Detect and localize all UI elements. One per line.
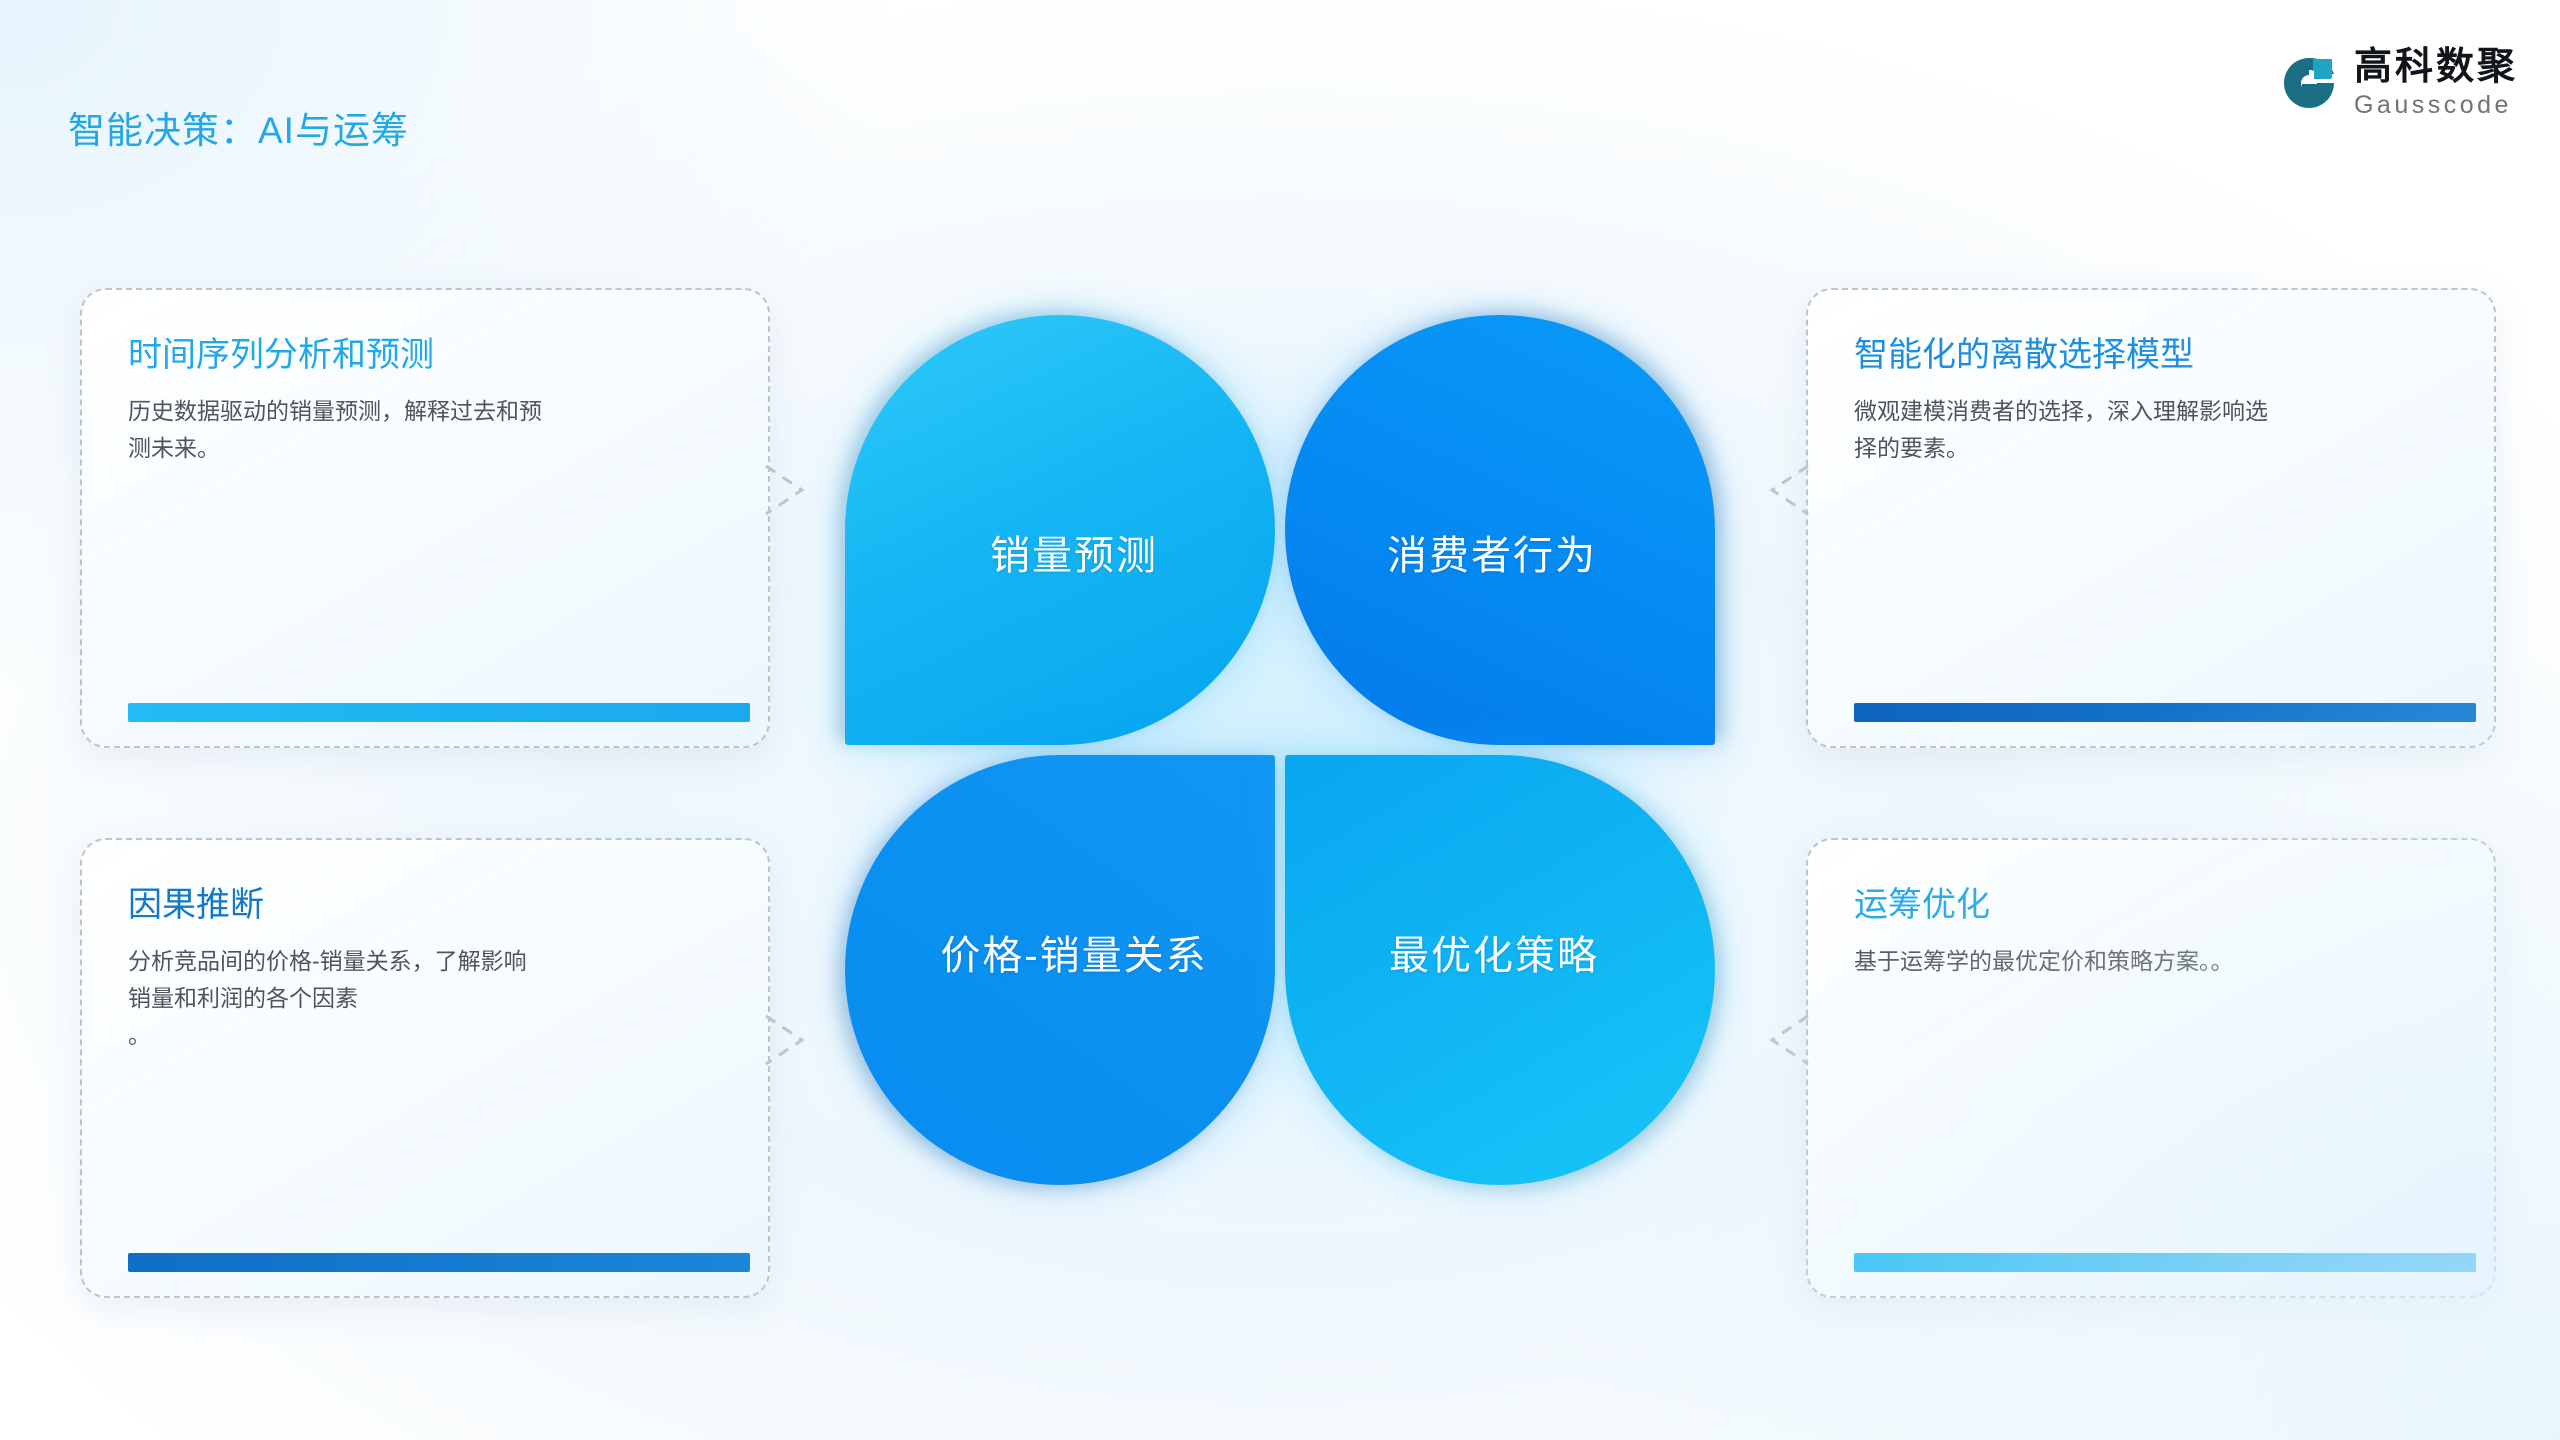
card-discrete-choice-model[interactable]: 智能化的离散选择模型 微观建模消费者的选择，深入理解影响选 择的要素。 bbox=[1806, 288, 2496, 748]
card-title: 智能化的离散选择模型 bbox=[1854, 334, 2448, 377]
logo-text-cn: 高科数聚 bbox=[2354, 48, 2518, 86]
petal-label: 销量预测 bbox=[990, 523, 1158, 581]
petal-consumer-behavior[interactable]: 消费者行为 bbox=[1285, 315, 1715, 745]
card-operations-optimization[interactable]: 运筹优化 基于运筹学的最优定价和策略方案。。 bbox=[1806, 838, 2496, 1298]
card-body: 历史数据驱动的销量预测，解释过去和预 测未来。 bbox=[128, 393, 722, 468]
page-title: 智能决策：AI与运筹 bbox=[68, 100, 409, 154]
petal-label: 消费者行为 bbox=[1387, 523, 1597, 581]
card-body: 微观建模消费者的选择，深入理解影响选 择的要素。 bbox=[1854, 393, 2448, 468]
card-body: 分析竞品间的价格-销量关系，了解影响 销量和利润的各个因素 。 bbox=[128, 943, 722, 1055]
card-accent-bar bbox=[128, 703, 750, 722]
card-accent-bar bbox=[1854, 1253, 2476, 1272]
card-causal-inference[interactable]: 因果推断 分析竞品间的价格-销量关系，了解影响 销量和利润的各个因素 。 bbox=[80, 838, 770, 1298]
petal-label: 价格-销量关系 bbox=[940, 923, 1207, 981]
gausscode-logo-mark-icon bbox=[2280, 54, 2338, 112]
card-time-series-analysis[interactable]: 时间序列分析和预测 历史数据驱动的销量预测，解释过去和预 测未来。 bbox=[80, 288, 770, 748]
card-accent-bar bbox=[1854, 703, 2476, 722]
card-title: 运筹优化 bbox=[1854, 884, 2448, 927]
card-title: 因果推断 bbox=[128, 884, 722, 927]
card-title: 时间序列分析和预测 bbox=[128, 334, 722, 377]
card-accent-bar bbox=[128, 1253, 750, 1272]
petal-price-volume-relation[interactable]: 价格-销量关系 bbox=[845, 755, 1275, 1185]
petal-label: 最优化策略 bbox=[1389, 923, 1599, 981]
card-body: 基于运筹学的最优定价和策略方案。。 bbox=[1854, 943, 2448, 980]
slide-canvas: 智能决策：AI与运筹 高科数聚 Gausscode 销量预测 消费者行为 bbox=[0, 0, 2560, 1440]
flower-diagram: 销量预测 消费者行为 价格-销量关系 最优化策略 bbox=[845, 315, 1715, 1185]
petal-sales-forecast[interactable]: 销量预测 bbox=[845, 315, 1275, 745]
petal-optimal-strategy[interactable]: 最优化策略 bbox=[1285, 755, 1715, 1185]
brand-logo: 高科数聚 Gausscode bbox=[2280, 48, 2518, 118]
logo-text-en: Gausscode bbox=[2354, 93, 2518, 118]
